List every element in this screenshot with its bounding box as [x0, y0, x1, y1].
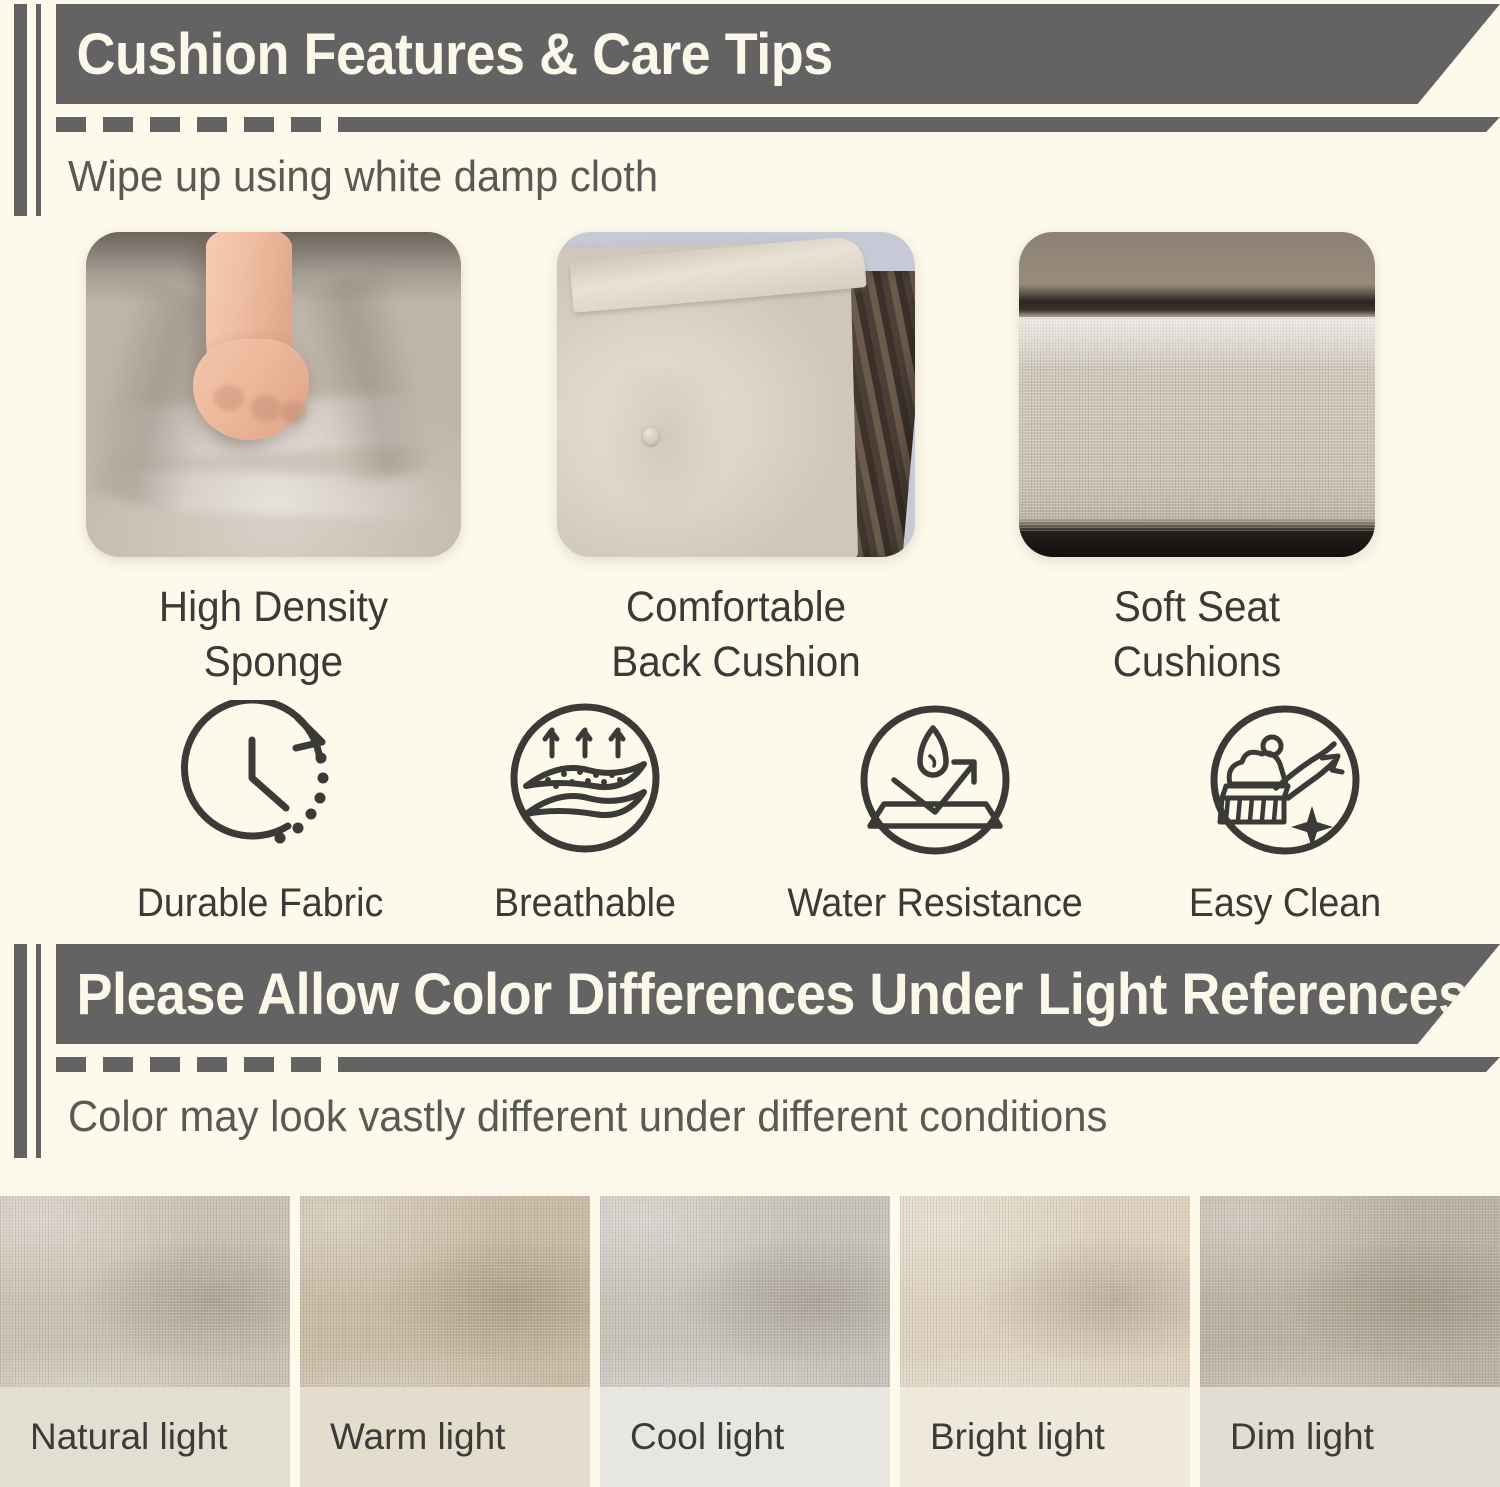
feature-photo-high-density-sponge [86, 232, 461, 557]
section-banner-2: Please Allow Color Differences Under Lig… [56, 944, 1500, 1044]
benefit-label-breathable: Breathable [430, 881, 740, 926]
color-swatch-cool-light: Cool light [600, 1196, 890, 1487]
feature-caption-1-line2: Sponge [97, 635, 450, 690]
benefit-water-resistance: Water Resistance [760, 700, 1110, 926]
banner-rule-1 [56, 117, 1500, 132]
feature-caption-3-line1: Soft Seat [1030, 580, 1365, 635]
color-swatch-label-bright-light: Bright light [900, 1416, 1105, 1458]
color-swatch-bright-light: Bright light [900, 1196, 1190, 1487]
color-swatch-label-cool-light: Cool light [600, 1416, 784, 1458]
left-rail-thick-top [14, 4, 27, 216]
benefit-breathable: Breathable [420, 700, 750, 926]
benefit-durable-fabric: Durable Fabric [80, 700, 440, 926]
benefit-easy-clean: Easy Clean [1120, 700, 1450, 926]
color-swatch-natural-light: Natural light [0, 1196, 290, 1487]
section-subhead-2: Color may look vastly different under di… [68, 1092, 1107, 1142]
breathable-fabric-icon [500, 700, 670, 865]
color-swatch-label-natural-light: Natural light [0, 1416, 227, 1458]
section-banner-1: Cushion Features & Care Tips [56, 4, 1500, 104]
banner-rule-2 [56, 1057, 1500, 1072]
left-rail-thick-bottom [14, 944, 27, 1158]
feature-caption-2: Comfortable Back Cushion [568, 580, 905, 690]
section-subhead-1: Wipe up using white damp cloth [68, 152, 658, 202]
feature-caption-1-line1: High Density [97, 580, 450, 635]
feature-caption-2-line2: Back Cushion [568, 635, 905, 690]
feature-caption-3: Soft Seat Cushions [1030, 580, 1365, 690]
clock-arrow-icon [170, 700, 350, 865]
water-droplet-repel-icon [850, 700, 1020, 865]
color-swatch-label-warm-light: Warm light [300, 1416, 505, 1458]
feature-caption-2-line1: Comfortable [568, 580, 905, 635]
feature-photo-soft-seat-cushions [1019, 232, 1375, 557]
benefit-label-water-resistance: Water Resistance [771, 881, 1100, 926]
brush-sparkle-icon [1200, 700, 1370, 865]
color-swatch-label-dim-light: Dim light [1200, 1416, 1374, 1458]
feature-caption-3-line2: Cushions [1030, 635, 1365, 690]
infographic-page: Cushion Features & Care Tips Wipe up usi… [0, 0, 1500, 1487]
cushion-tuft-button [643, 427, 659, 445]
banner-title-1: Cushion Features & Care Tips [56, 21, 833, 88]
feature-caption-1: High Density Sponge [97, 580, 450, 690]
banner-title-2: Please Allow Color Differences Under Lig… [56, 961, 1468, 1028]
left-rail-thin-bottom [36, 944, 41, 1158]
color-swatch-dim-light: Dim light [1200, 1196, 1500, 1487]
left-rail-thin-top [36, 4, 41, 216]
benefit-label-easy-clean: Easy Clean [1130, 881, 1440, 926]
benefit-label-durable-fabric: Durable Fabric [91, 881, 429, 926]
feature-photo-comfortable-back-cushion [557, 232, 915, 557]
color-swatch-warm-light: Warm light [300, 1196, 590, 1487]
